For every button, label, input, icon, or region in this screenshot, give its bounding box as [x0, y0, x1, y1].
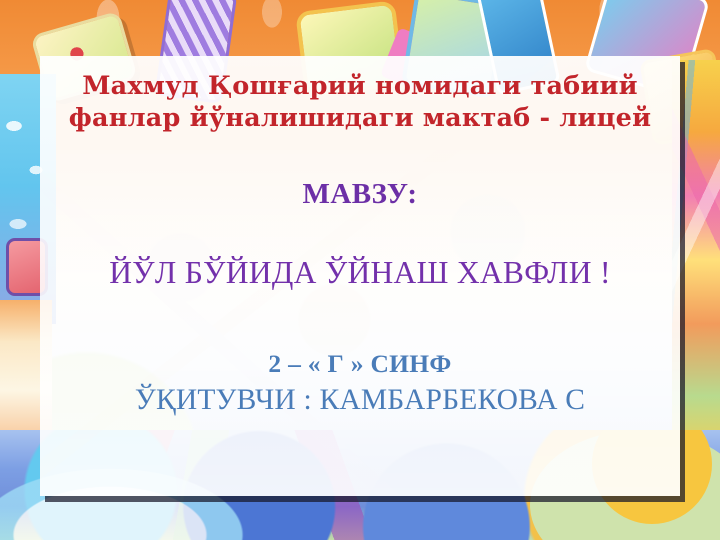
presentation-slide: Махмуд Қошғарий номидаги табиий фанлар й…: [0, 0, 720, 540]
topic-label: МАВЗУ:: [52, 134, 668, 211]
school-name-heading: Махмуд Қошғарий номидаги табиий фанлар й…: [52, 70, 668, 134]
content-panel: Махмуд Қошғарий номидаги табиий фанлар й…: [40, 56, 680, 496]
class-label: 2 – « Г » СИНФ: [52, 291, 668, 379]
teacher-label: ЎҚИТУВЧИ : КАМБАРБЕКОВА С: [52, 379, 668, 417]
lesson-headline: ЙЎЛ БЎЙИДА ЎЙНАШ ХАВФЛИ !: [52, 211, 668, 291]
